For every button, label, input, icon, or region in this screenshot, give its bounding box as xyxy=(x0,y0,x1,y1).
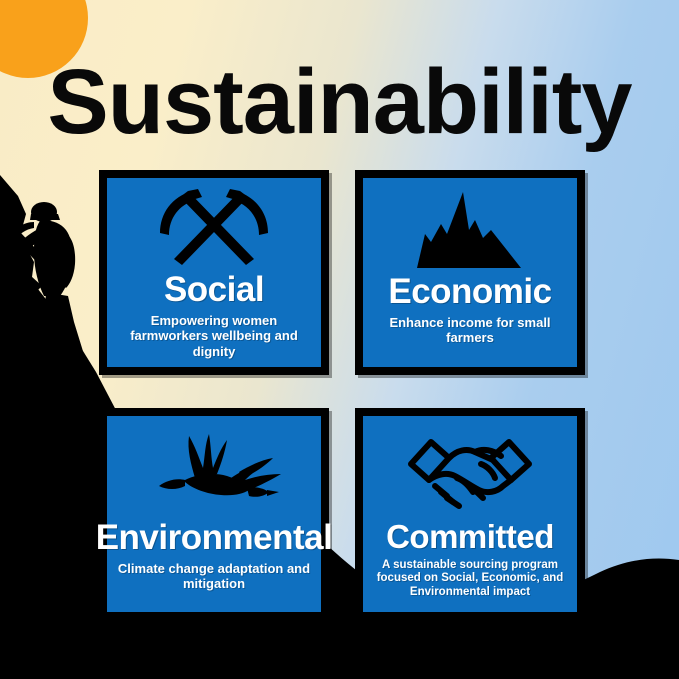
sustainability-poster: Sustainability xyxy=(0,0,679,679)
card-environmental[interactable]: Environmental Climate change adaptation … xyxy=(99,408,329,620)
climber-silhouette xyxy=(8,202,94,378)
flying-bird-icon xyxy=(115,426,313,518)
page-title: Sustainability xyxy=(0,56,679,148)
crossed-pickaxes-icon xyxy=(115,188,313,270)
card-description: A sustainable sourcing program focused o… xyxy=(371,559,569,600)
card-social[interactable]: Social Empowering women farmworkers well… xyxy=(99,170,329,375)
card-title: Social xyxy=(164,272,264,308)
card-description: Empowering women farmworkers wellbeing a… xyxy=(115,313,313,359)
card-description: Climate change adaptation and mitigation xyxy=(115,561,313,592)
pillars-grid: Social Empowering women farmworkers well… xyxy=(99,170,585,620)
mountain-peak-icon xyxy=(371,188,569,272)
handshake-icon xyxy=(371,426,569,518)
card-title: Economic xyxy=(388,274,551,310)
card-committed[interactable]: Committed A sustainable sourcing program… xyxy=(355,408,585,620)
card-title: Committed xyxy=(386,520,554,554)
card-title: Environmental xyxy=(96,520,333,556)
mountain-silhouette xyxy=(0,175,60,640)
card-description: Enhance income for small farmers xyxy=(371,315,569,346)
card-economic[interactable]: Economic Enhance income for small farmer… xyxy=(355,170,585,375)
